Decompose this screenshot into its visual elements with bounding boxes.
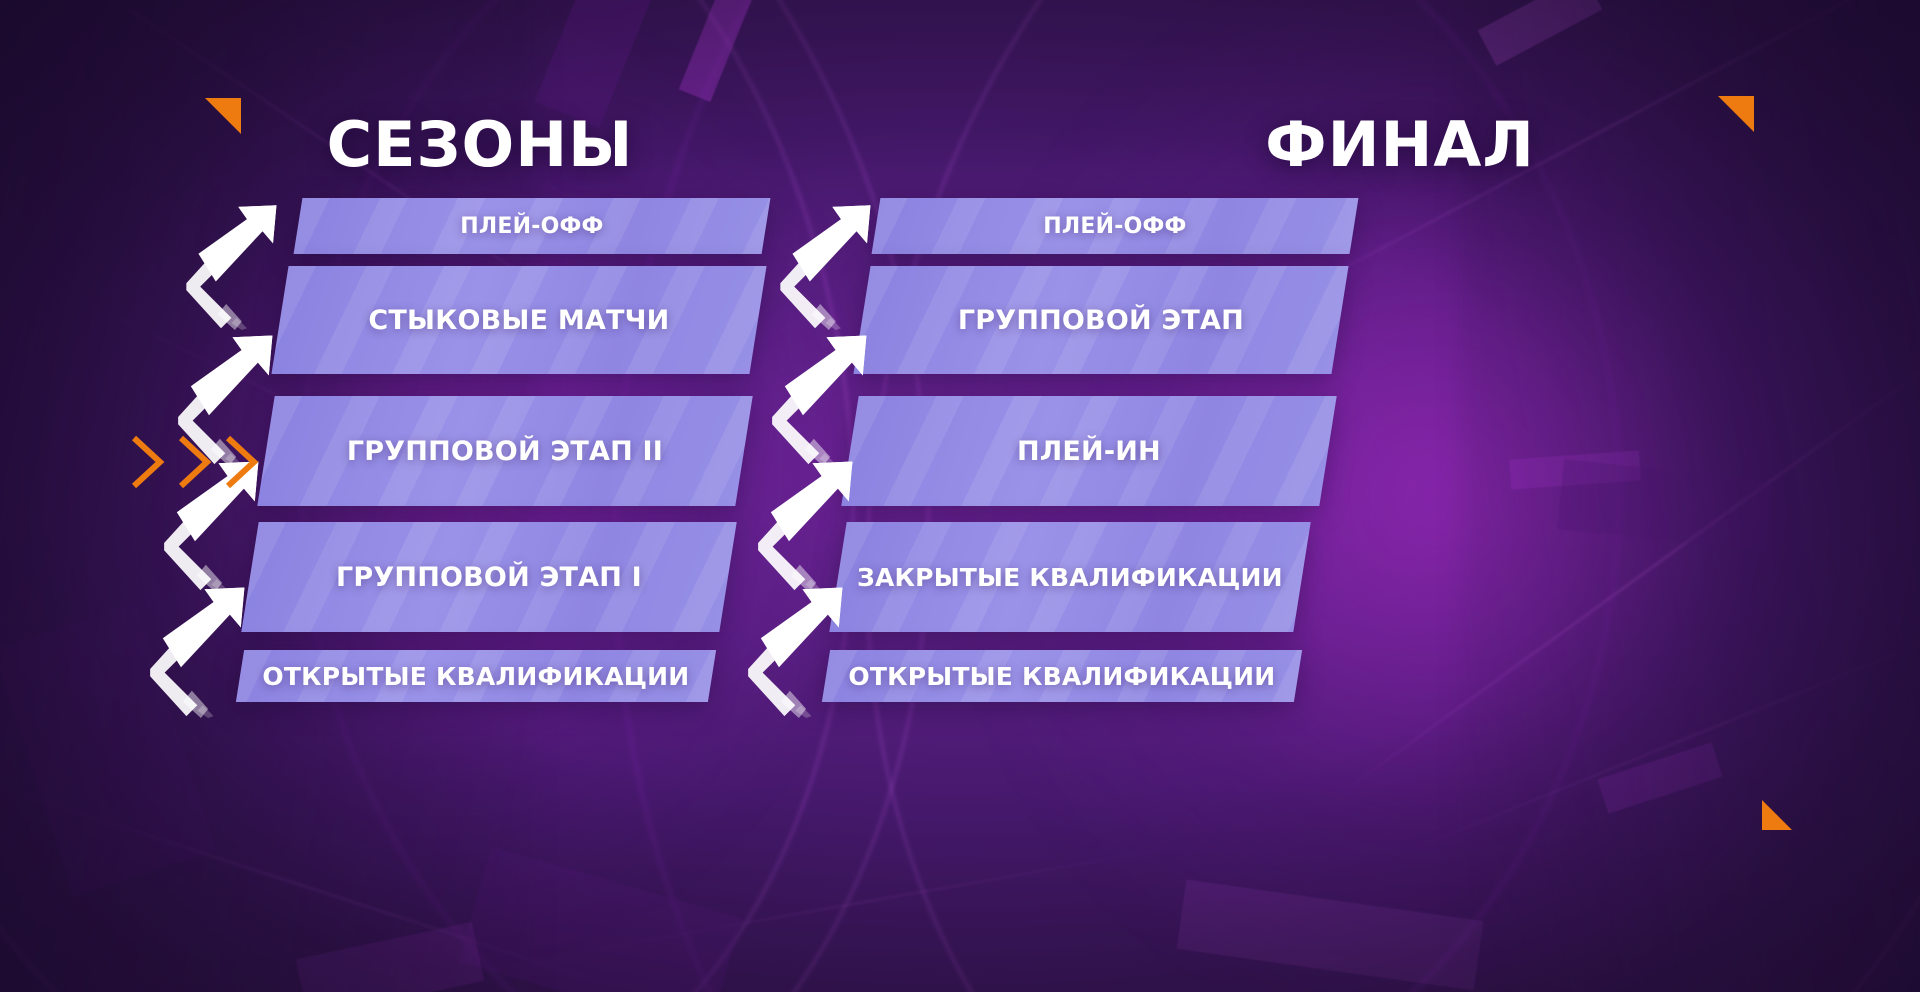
stage-bar-label: ПЛЕЙ-ОФФ	[876, 214, 1354, 239]
stage-bar-label: ПЛЕЙ-ИН	[850, 436, 1328, 467]
triple-chevron-right-icon	[130, 434, 270, 490]
stage-bar[interactable]: ГРУППОВОЙ ЭТАП I	[241, 522, 736, 632]
stage-bar-label: ПЛЕЙ-ОФФ	[298, 214, 766, 239]
stage-bar[interactable]: ПЛЕЙ-ИН	[841, 396, 1336, 506]
stage-bar-label: ЗАКРЫТЫЕ КВАЛИФИКАЦИИ	[838, 563, 1302, 592]
zigzag-up-arrow-halftone-icon	[150, 582, 250, 718]
stage-bar[interactable]: ГРУППОВОЙ ЭТАП	[853, 266, 1348, 374]
stage-bar[interactable]: ГРУППОВОЙ ЭТАП II	[257, 396, 752, 506]
stage-bar[interactable]: ЗАКРЫТЫЕ КВАЛИФИКАЦИИ	[829, 522, 1310, 632]
stage-layer: ПЛЕЙ-ОФФСТЫКОВЫЕ МАТЧИГРУППОВОЙ ЭТАП IIГ…	[0, 0, 1920, 992]
zigzag-up-arrow-halftone-icon	[758, 456, 858, 592]
stage-bar-label: ГРУППОВОЙ ЭТАП II	[266, 436, 744, 467]
orange-triangle-icon	[1718, 96, 1754, 132]
orange-triangle-icon	[1762, 800, 1792, 830]
zigzag-up-arrow-halftone-icon	[780, 200, 876, 330]
stage-bar[interactable]: ОТКРЫТЫЕ КВАЛИФИКАЦИИ	[236, 650, 716, 702]
stage-bar[interactable]: ОТКРЫТЫЕ КВАЛИФИКАЦИИ	[822, 650, 1302, 702]
stage-bar-label: ОТКРЫТЫЕ КВАЛИФИКАЦИИ	[240, 662, 712, 691]
zigzag-up-arrow-halftone-icon	[772, 330, 872, 466]
zigzag-up-arrow-halftone-icon	[186, 200, 282, 330]
stage-bar[interactable]: СТЫКОВЫЕ МАТЧИ	[271, 266, 766, 374]
stage-bar-label: СТЫКОВЫЕ МАТЧИ	[280, 305, 758, 336]
orange-triangle-icon	[205, 98, 241, 134]
stage-bar-label: ОТКРЫТЫЕ КВАЛИФИКАЦИИ	[826, 662, 1298, 691]
stage-bar[interactable]: ПЛЕЙ-ОФФ	[872, 198, 1359, 254]
stage-bar-label: ГРУППОВОЙ ЭТАП	[862, 305, 1340, 336]
stage-bar-label: ГРУППОВОЙ ЭТАП I	[250, 562, 728, 593]
zigzag-up-arrow-halftone-icon	[748, 582, 848, 718]
stage-bar[interactable]: ПЛЕЙ-ОФФ	[294, 198, 771, 254]
